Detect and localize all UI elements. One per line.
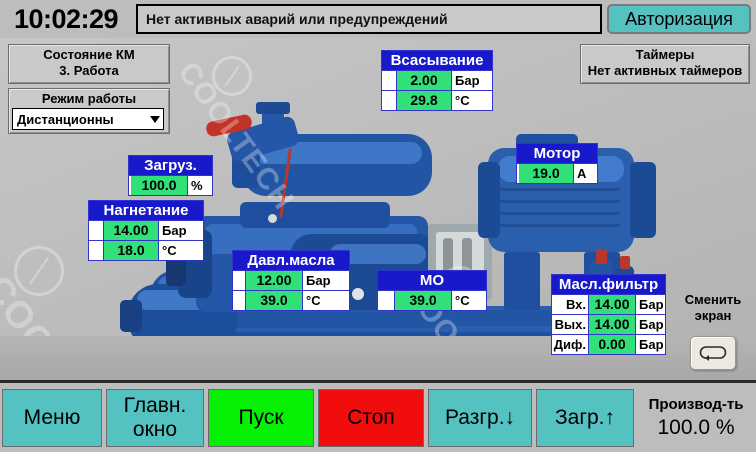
load-row-0-unit: %	[188, 176, 212, 195]
table-row: Вых. 14.00 Бар	[552, 314, 665, 334]
discharge-row-1-unit: °C	[159, 241, 203, 260]
km-state-title: Состояние КМ	[9, 47, 169, 63]
motor-row-0-unit: A	[574, 164, 597, 183]
table-row: 19.0 A	[517, 163, 597, 183]
oil-filter-title: Масл.фильтр	[552, 275, 665, 294]
operating-mode-title: Режим работы	[9, 91, 169, 107]
chevron-down-icon[interactable]	[150, 116, 160, 123]
capacity-value: 100.0 %	[657, 415, 734, 441]
change-screen-button[interactable]	[690, 336, 736, 370]
load-button[interactable]: Загр.↑	[536, 389, 634, 447]
change-screen-label-line1: Сменить	[676, 292, 750, 308]
bottom-toolbar: Меню Главн. окно Пуск Стоп Разгр.↓ Загр.…	[0, 380, 756, 452]
suction-panel-title: Всасывание	[382, 51, 492, 70]
oil-filter-row-1-value: 14.00	[589, 315, 636, 334]
motor-panel-title: Мотор	[517, 144, 597, 163]
suction-row-0-value: 2.00	[397, 71, 452, 90]
oil-filter-row-2-value: 0.00	[589, 335, 636, 354]
discharge-row-0-unit: Бар	[159, 221, 203, 240]
oil-pressure-row-0-name	[233, 271, 246, 290]
mo-row-0-name	[378, 291, 395, 310]
discharge-row-1-name	[89, 241, 104, 260]
oil-filter-row-1-unit: Бар	[636, 315, 665, 334]
menu-button[interactable]: Меню	[2, 389, 102, 447]
motor-panel: Мотор 19.0 A	[516, 143, 598, 184]
discharge-row-0-value: 14.00	[104, 221, 159, 240]
table-row: 2.00 Бар	[382, 70, 492, 90]
timers-box: Таймеры Нет активных таймеров	[580, 44, 750, 84]
oil-filter-row-0-name: Вх.	[552, 295, 589, 314]
unload-button[interactable]: Разгр.↓	[428, 389, 532, 447]
mo-row-0-value: 39.0	[395, 291, 452, 310]
main-window-button[interactable]: Главн. окно	[106, 389, 204, 447]
load-row-0-value: 100.0	[131, 176, 188, 195]
oil-pressure-row-0-unit: Бар	[303, 271, 349, 290]
top-bar: 10:02:29 Нет активных аварий или предупр…	[0, 0, 756, 38]
suction-row-1-value: 29.8	[397, 91, 452, 110]
motor-row-0-value: 19.0	[519, 164, 574, 183]
oil-pressure-row-1-name	[233, 291, 246, 310]
discharge-panel: Нагнетание 14.00 Бар 18.0 °C	[88, 200, 204, 261]
oil-pressure-row-1-unit: °C	[303, 291, 349, 310]
start-button[interactable]: Пуск	[208, 389, 314, 447]
table-row: 14.00 Бар	[89, 220, 203, 240]
oil-filter-row-0-value: 14.00	[589, 295, 636, 314]
hmi-screen: 10:02:29 Нет активных аварий или предупр…	[0, 0, 756, 452]
change-screen-label-line2: экран	[676, 308, 750, 324]
change-screen-label: Сменить экран	[676, 292, 750, 324]
main-window-label-line2: окно	[133, 418, 177, 442]
table-row: 39.0 °C	[233, 290, 349, 310]
load-percent-panel: Загруз. 100.0 %	[128, 155, 213, 196]
operating-mode-select[interactable]: Дистанционны	[12, 108, 164, 130]
oil-pressure-row-0-value: 12.00	[246, 271, 303, 290]
table-row: Вх. 14.00 Бар	[552, 294, 665, 314]
discharge-row-1-value: 18.0	[104, 241, 159, 260]
oil-filter-row-2-name: Диф.	[552, 335, 589, 354]
suction-row-0-name	[382, 71, 397, 90]
main-window-label-line1: Главн.	[124, 394, 187, 418]
oil-filter-row-1-name: Вых.	[552, 315, 589, 334]
clock: 10:02:29	[0, 4, 132, 35]
authorization-button[interactable]: Авторизация	[607, 4, 751, 34]
operating-mode-value: Дистанционны	[17, 112, 114, 127]
km-state-value: 3. Работа	[9, 63, 169, 79]
alarm-status-line: Нет активных аварий или предупреждений	[136, 4, 602, 34]
mo-panel-title: МО	[378, 271, 486, 290]
table-row: 29.8 °C	[382, 90, 492, 110]
suction-row-1-unit: °C	[452, 91, 492, 110]
timers-value: Нет активных таймеров	[581, 63, 749, 79]
load-percent-title: Загруз.	[129, 156, 212, 175]
oil-filter-row-0-unit: Бар	[636, 295, 665, 314]
oil-pressure-panel: Давл.масла 12.00 Бар 39.0 °C	[232, 250, 350, 311]
mo-temperature-panel: МО 39.0 °C	[377, 270, 487, 311]
capacity-title: Производ-ть	[649, 395, 744, 415]
suction-panel: Всасывание 2.00 Бар 29.8 °C	[381, 50, 493, 111]
km-state-box: Состояние КМ 3. Работа	[8, 44, 170, 84]
oil-filter-row-2-unit: Бар	[636, 335, 665, 354]
capacity-readout: Производ-ть 100.0 %	[638, 389, 754, 447]
oil-pressure-row-1-value: 39.0	[246, 291, 303, 310]
table-row: 12.00 Бар	[233, 270, 349, 290]
discharge-row-0-name	[89, 221, 104, 240]
table-row: Диф. 0.00 Бар	[552, 334, 665, 354]
stop-button[interactable]: Стоп	[318, 389, 424, 447]
suction-row-0-unit: Бар	[452, 71, 492, 90]
cycle-loop-icon	[697, 343, 729, 363]
mo-row-0-unit: °C	[452, 291, 486, 310]
suction-row-1-name	[382, 91, 397, 110]
discharge-panel-title: Нагнетание	[89, 201, 203, 220]
table-row: 18.0 °C	[89, 240, 203, 260]
oil-pressure-title: Давл.масла	[233, 251, 349, 270]
table-row: 100.0 %	[129, 175, 212, 195]
oil-filter-panel: Масл.фильтр Вх. 14.00 Бар Вых. 14.00 Бар…	[551, 274, 666, 355]
table-row: 39.0 °C	[378, 290, 486, 310]
timers-title: Таймеры	[581, 47, 749, 63]
